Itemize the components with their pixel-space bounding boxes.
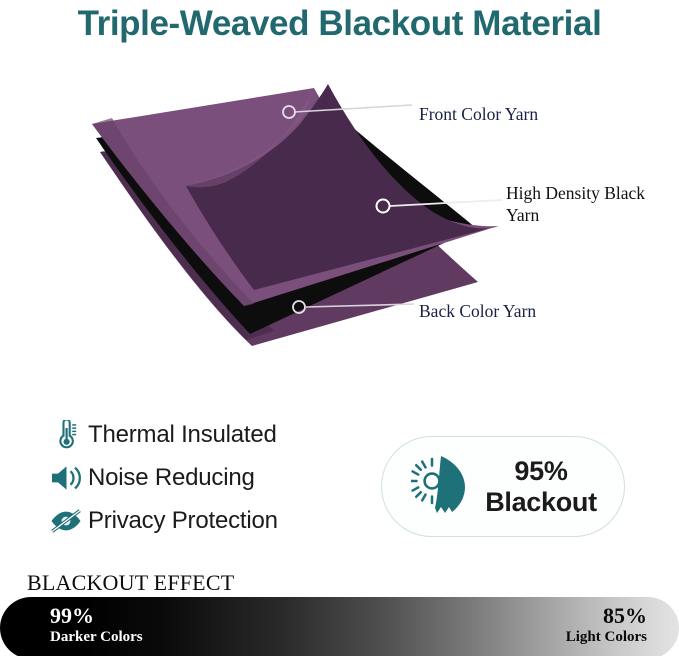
page-title: Triple-Weaved Blackout Material [0, 4, 679, 44]
speaker-sound-icon [44, 464, 88, 492]
feature-item-noise-reducing: Noise Reducing [44, 456, 374, 499]
callout-label-front-color-yarn: Front Color Yarn [419, 103, 538, 125]
blackout-badge-text: 95% Blackout [485, 456, 597, 518]
feature-item-thermal-insulated: Thermal Insulated [44, 413, 374, 456]
sun-blocked-icon [409, 454, 475, 520]
feature-list: Thermal Insulated Noise Reducing [44, 413, 374, 542]
light-colors-percent: 85% [566, 604, 647, 629]
blackout-effect-light-colors: 85% Light Colors [566, 604, 647, 645]
blackout-word: Blackout [485, 487, 597, 518]
blackout-effect-darker-colors: 99% Darker Colors [50, 604, 143, 645]
feature-label: Privacy Protection [88, 507, 278, 535]
feature-label: Thermal Insulated [88, 421, 277, 449]
eye-off-icon [44, 508, 88, 534]
blackout-percent: 95% [485, 456, 597, 487]
product-feature-panel: Triple-Weaved Blackout Material [0, 0, 679, 656]
darker-colors-caption: Darker Colors [50, 629, 143, 646]
callout-label-high-density-black-yarn: High Density Black Yarn [506, 182, 656, 227]
blackout-percentage-badge: 95% Blackout [381, 436, 625, 537]
feature-label: Noise Reducing [88, 464, 255, 492]
light-colors-caption: Light Colors [566, 629, 647, 646]
darker-colors-percent: 99% [50, 604, 143, 629]
blackout-effect-heading: BLACKOUT EFFECT [27, 570, 234, 596]
callout-label-back-color-yarn: Back Color Yarn [419, 300, 536, 322]
thermometer-icon [44, 420, 88, 450]
feature-item-privacy-protection: Privacy Protection [44, 499, 374, 542]
